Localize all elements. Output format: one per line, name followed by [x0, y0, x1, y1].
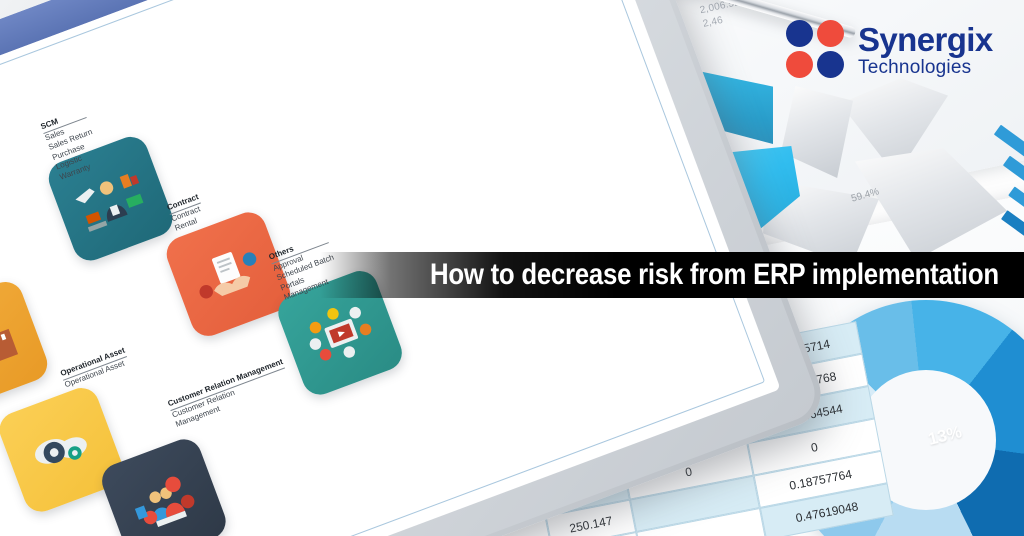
logo-dot-bottom-right [817, 51, 844, 78]
synergix-logo: Synergix Technologies [786, 14, 1014, 86]
cloud-gear-icon [22, 415, 101, 485]
tile-label-crm: Customer Relation Management Customer Re… [167, 357, 293, 430]
handshake-icon [187, 238, 271, 311]
page-title: How to decrease risk from ERP implementa… [430, 258, 999, 292]
logo-dot-top-right [817, 20, 844, 47]
tile-label-operational-asset: Operational Asset Operational Asset [59, 346, 131, 391]
logo-dot-top-left [786, 20, 813, 47]
logo-company-name: Synergix [858, 23, 993, 56]
logo-company-subtitle: Technologies [858, 58, 993, 77]
pie-slice-gray [855, 148, 1007, 260]
screenshot-stage: 6.2 4.9 3.6 2.4 401.21 344.1 343.56 449.… [0, 0, 1024, 536]
people-group-icon [121, 464, 207, 536]
logo-dot-bottom-left [786, 51, 813, 78]
tile-production[interactable] [0, 277, 52, 411]
logo-mark [786, 20, 848, 80]
factory-icon [0, 309, 23, 378]
title-banner: How to decrease risk from ERP implementa… [320, 252, 1024, 298]
logo-wordmark: Synergix Technologies [858, 23, 993, 77]
tablet-media-icon [298, 295, 382, 370]
